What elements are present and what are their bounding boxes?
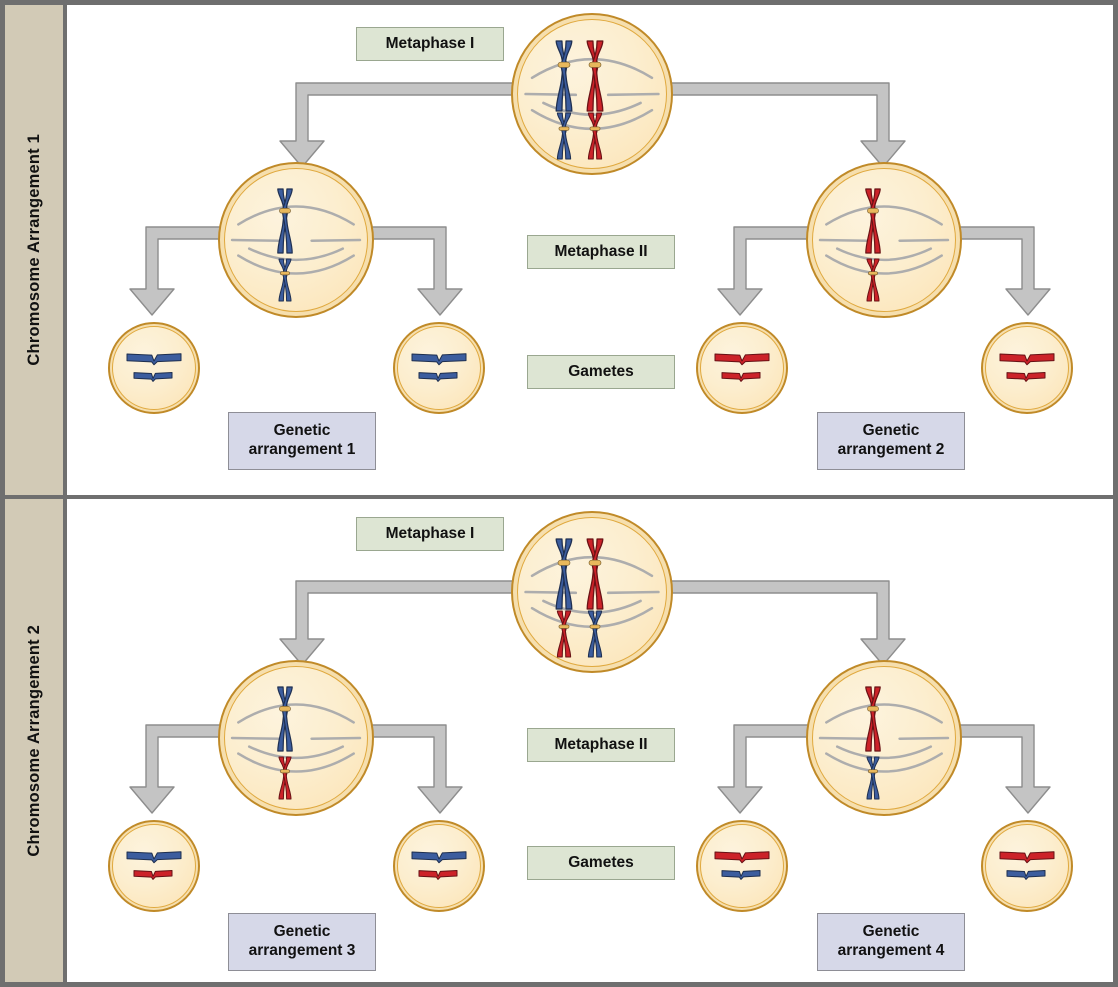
chromosome-bottom bbox=[1006, 371, 1046, 380]
stage-label-metaphase-i-2: Metaphase I bbox=[356, 517, 504, 551]
arrangement-label-text: Genetic arrangement 4 bbox=[838, 923, 945, 961]
genetic-arrangement-3-label: Genetic arrangement 3 bbox=[228, 913, 376, 971]
meiosis-arrow bbox=[291, 83, 527, 167]
stage-arrangement-1: Metaphase I Metaphase II Gametes Genetic… bbox=[63, 5, 1113, 495]
chromosome-arrangement-2-panel: Chromosome Arrangement 2 Metaphase I Met… bbox=[5, 499, 1113, 982]
gamete-6 bbox=[393, 820, 485, 912]
cytoplasm bbox=[397, 326, 481, 410]
chromosome-top-left bbox=[551, 539, 577, 609]
gamete-1 bbox=[108, 322, 200, 414]
cytoplasm bbox=[700, 824, 784, 908]
chromosome-top bbox=[411, 850, 467, 861]
chromosome-top bbox=[273, 189, 297, 253]
metaphase-ii-cell-left bbox=[218, 660, 374, 816]
gamete-2 bbox=[393, 322, 485, 414]
cytoplasm bbox=[112, 326, 196, 410]
chromosome-bottom-left bbox=[553, 611, 575, 657]
gamete-7 bbox=[696, 820, 788, 912]
chromosome-top bbox=[861, 687, 885, 751]
gamete-3 bbox=[696, 322, 788, 414]
chromosome-arrangement-1-panel: Chromosome Arrangement 1 Metaphase I Met… bbox=[5, 5, 1113, 499]
chromosome-bottom-left bbox=[553, 113, 575, 159]
cytoplasm bbox=[397, 824, 481, 908]
chromosome-top bbox=[273, 687, 297, 751]
genetic-arrangement-1-label: Genetic arrangement 1 bbox=[228, 412, 376, 470]
genetic-arrangement-4-label: Genetic arrangement 4 bbox=[817, 913, 965, 971]
metaphase-ii-cell-right bbox=[806, 162, 962, 318]
genetic-arrangement-2-label: Genetic arrangement 2 bbox=[817, 412, 965, 470]
gamete-5 bbox=[108, 820, 200, 912]
chromosome-top bbox=[714, 352, 770, 363]
chromosome-bottom bbox=[1006, 869, 1046, 878]
gamete-8 bbox=[981, 820, 1073, 912]
chromosome-top bbox=[999, 850, 1055, 861]
cytoplasm bbox=[700, 326, 784, 410]
cytoplasm bbox=[985, 824, 1069, 908]
chromosome-bottom bbox=[275, 757, 295, 799]
chromosome-bottom bbox=[418, 371, 458, 380]
chromosome-top bbox=[126, 850, 182, 861]
chromosome-bottom bbox=[133, 869, 173, 878]
chromosome-bottom-right bbox=[584, 113, 606, 159]
cytoplasm bbox=[985, 326, 1069, 410]
chromosome-bottom bbox=[418, 869, 458, 878]
meiosis-arrow bbox=[291, 581, 527, 665]
stage-label-gametes-1: Gametes bbox=[527, 355, 675, 389]
chromosome-bottom bbox=[275, 259, 295, 301]
cytoplasm bbox=[112, 824, 196, 908]
chromosome-bottom bbox=[863, 259, 883, 301]
meiosis-arrow bbox=[658, 83, 894, 167]
sidebar-label-arrangement-1: Chromosome Arrangement 1 bbox=[25, 134, 44, 366]
sidebar-arrangement-1: Chromosome Arrangement 1 bbox=[5, 5, 67, 495]
chromosome-top-right bbox=[582, 41, 608, 111]
chromosome-bottom-right bbox=[584, 611, 606, 657]
stage-label-metaphase-ii-1: Metaphase II bbox=[527, 235, 675, 269]
chromosome-top bbox=[714, 850, 770, 861]
chromosome-bottom bbox=[721, 869, 761, 878]
gamete-4 bbox=[981, 322, 1073, 414]
arrangement-label-text: Genetic arrangement 2 bbox=[838, 422, 945, 460]
metaphase-ii-cell-left bbox=[218, 162, 374, 318]
metaphase-i-cell bbox=[511, 13, 673, 175]
chromosome-bottom bbox=[721, 371, 761, 380]
stage-label-metaphase-i-1: Metaphase I bbox=[356, 27, 504, 61]
meiosis-arrow bbox=[658, 581, 894, 665]
arrangement-label-text: Genetic arrangement 1 bbox=[249, 422, 356, 460]
chromosome-top bbox=[411, 352, 467, 363]
chromosome-bottom bbox=[133, 371, 173, 380]
sidebar-arrangement-2: Chromosome Arrangement 2 bbox=[5, 499, 67, 982]
stage-label-metaphase-ii-2: Metaphase II bbox=[527, 728, 675, 762]
metaphase-i-cell bbox=[511, 511, 673, 673]
chromosome-top-right bbox=[582, 539, 608, 609]
chromosome-bottom bbox=[863, 757, 883, 799]
chromosome-top-left bbox=[551, 41, 577, 111]
meiosis-independent-assortment-figure: Chromosome Arrangement 1 Metaphase I Met… bbox=[0, 0, 1118, 987]
sidebar-label-arrangement-2: Chromosome Arrangement 2 bbox=[25, 625, 44, 857]
chromosome-top bbox=[999, 352, 1055, 363]
stage-label-gametes-2: Gametes bbox=[527, 846, 675, 880]
stage-arrangement-2: Metaphase I Metaphase II Gametes Genetic… bbox=[63, 499, 1113, 982]
metaphase-ii-cell-right bbox=[806, 660, 962, 816]
chromosome-top bbox=[126, 352, 182, 363]
arrangement-label-text: Genetic arrangement 3 bbox=[249, 923, 356, 961]
chromosome-top bbox=[861, 189, 885, 253]
